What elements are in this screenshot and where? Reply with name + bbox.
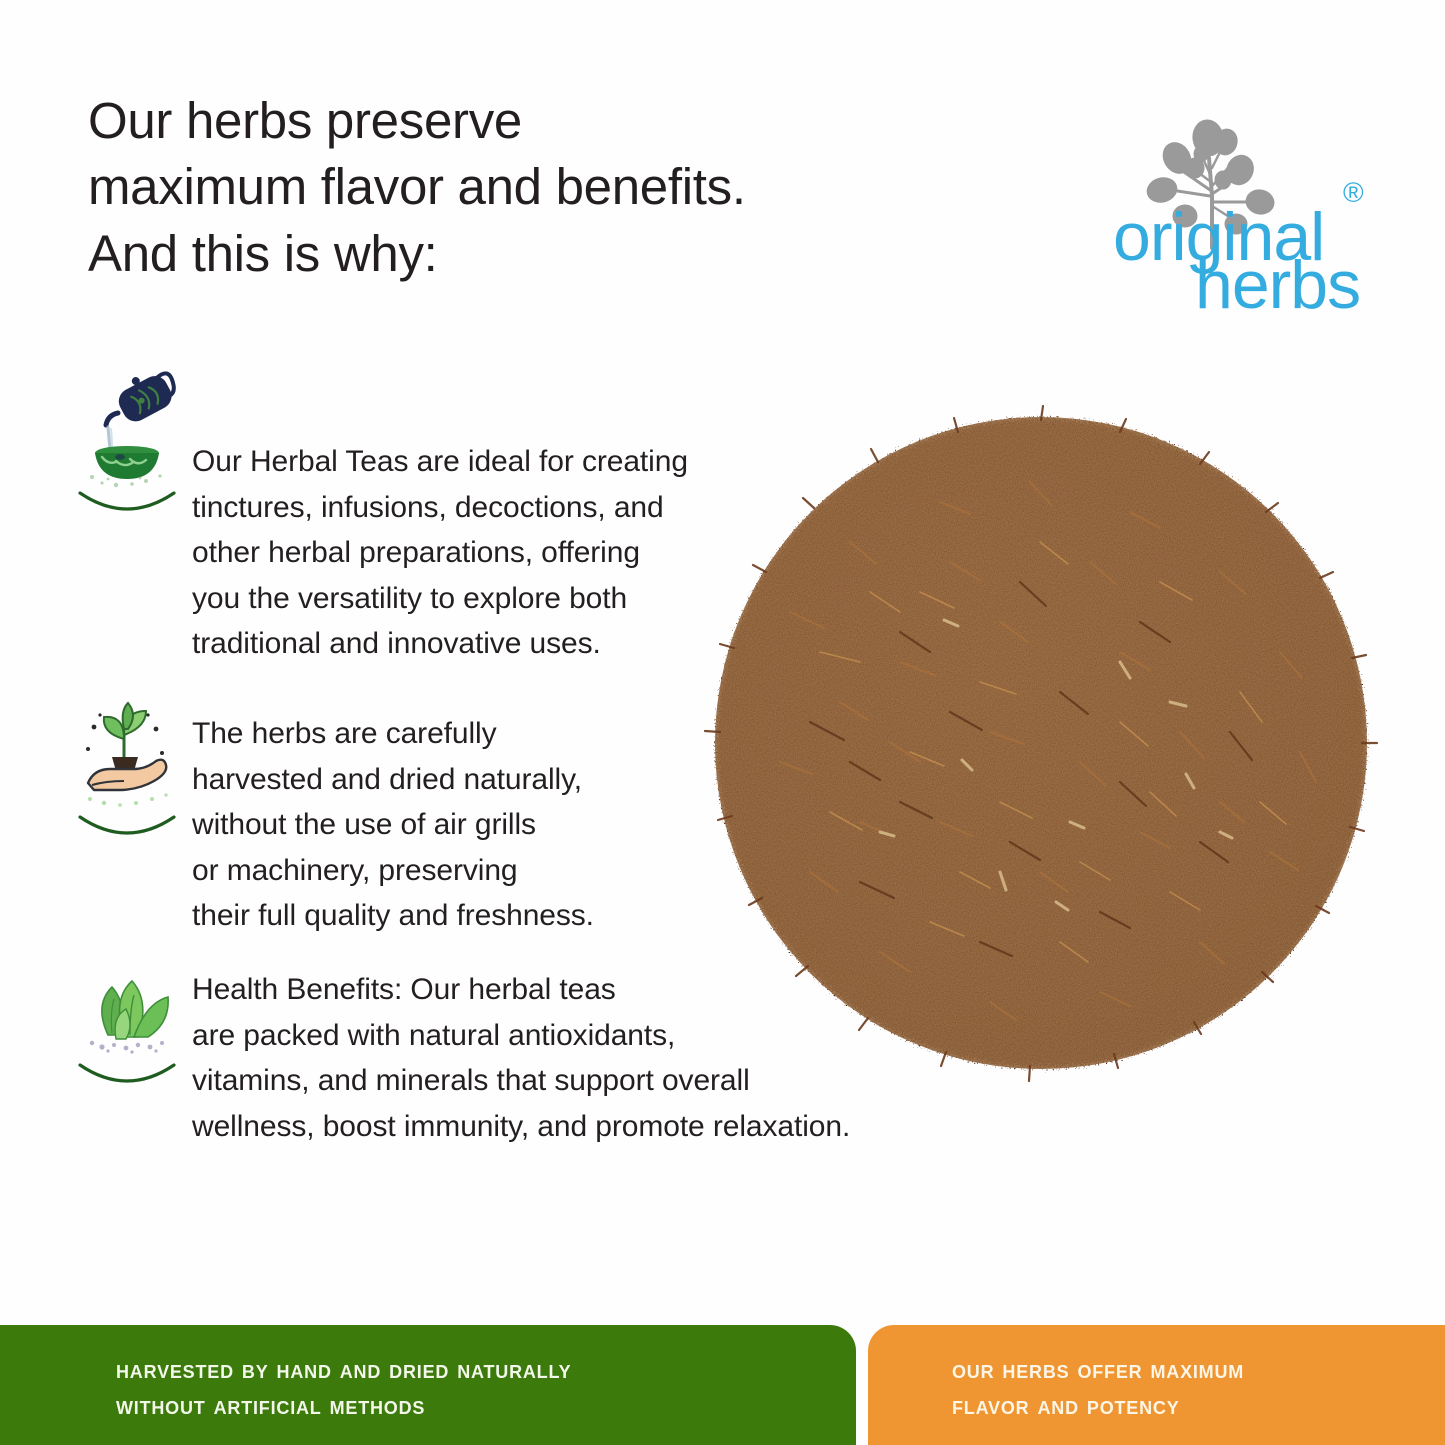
- teapot-pouring-into-cup-icon: [72, 365, 192, 515]
- list-item-text: The herbs are carefully harvested and dr…: [192, 695, 594, 939]
- flavor-banner-text: Our herbs offer maximum flavor and poten…: [952, 1351, 1244, 1424]
- registered-mark: ®: [1343, 177, 1364, 208]
- hand-holding-sprout-icon: [72, 695, 192, 845]
- page-title: Our herbs preserve maximum flavor and be…: [88, 88, 988, 287]
- product-photo: [700, 402, 1382, 1084]
- brand-logo: original ® herbs: [1113, 98, 1393, 313]
- bottom-banners: Harvested by hand and dried naturally wi…: [0, 1325, 1445, 1445]
- harvest-banner: Harvested by hand and dried naturally wi…: [0, 1325, 856, 1445]
- harvest-banner-text: Harvested by hand and dried naturally wi…: [116, 1351, 571, 1424]
- list-item-text: Our Herbal Teas are ideal for creating t…: [192, 365, 688, 667]
- brand-name-line2: herbs: [1195, 247, 1360, 313]
- infographic-page: Our herbs preserve maximum flavor and be…: [0, 0, 1445, 1445]
- flavor-banner: Our herbs offer maximum flavor and poten…: [868, 1325, 1445, 1445]
- green-leaves-icon: [72, 959, 192, 1109]
